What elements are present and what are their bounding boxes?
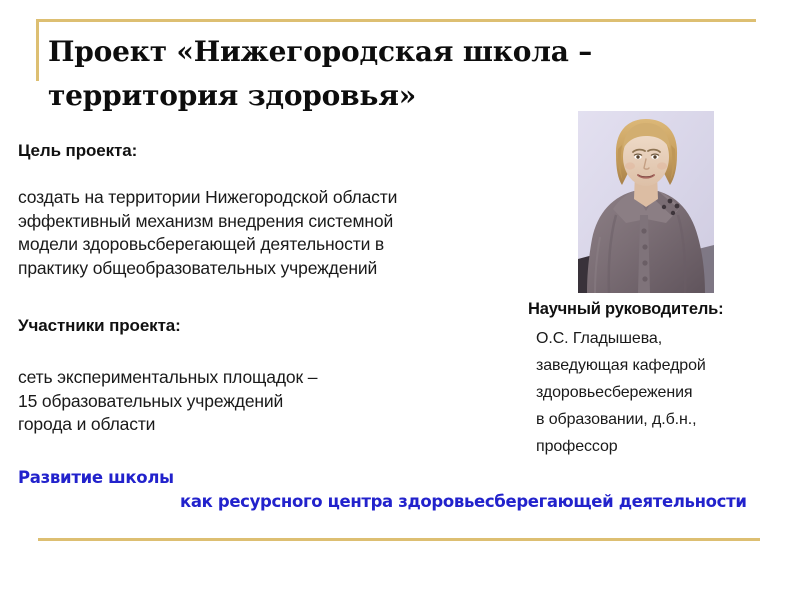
participants-line: сеть экспериментальных площадок –	[18, 366, 538, 390]
slide-title: Проект «Нижегородская школа – территория…	[48, 30, 608, 118]
supervisor-line: в образовании, д.б.н.,	[536, 406, 798, 433]
participants-line: 15 образовательных учреждений	[18, 390, 538, 414]
goal-line: эффективный механизм внедрения системной	[18, 210, 538, 234]
supervisor-line: О.С. Гладышева,	[536, 325, 798, 352]
supervisor-line: профессор	[536, 433, 798, 460]
supervisor-heading: Научный руководитель:	[528, 300, 723, 319]
goal-heading: Цель проекта:	[18, 141, 137, 161]
participants-line: города и области	[18, 413, 538, 437]
portrait-image	[578, 111, 714, 293]
decorative-rule-left	[36, 19, 39, 81]
decorative-rule-bottom	[38, 538, 760, 541]
supervisor-details: О.С. Гладышева, заведующая кафедрой здор…	[536, 325, 798, 460]
decorative-rule-top	[36, 19, 756, 22]
presentation-slide: Проект «Нижегородская школа – территория…	[0, 0, 800, 600]
slide-title-line-1: Проект «Нижегородская школа –	[48, 35, 592, 68]
slide-title-line-2: территория здоровья»	[48, 74, 608, 118]
footer-line-2: как ресурсного центра здоровьесберегающе…	[180, 492, 747, 511]
participants-heading: Участники проекта:	[18, 316, 181, 336]
goal-text: создать на территории Нижегородской обла…	[18, 186, 538, 280]
supervisor-line: здоровьесбережения	[536, 379, 798, 406]
goal-line: создать на территории Нижегородской обла…	[18, 186, 538, 210]
footer-line-1: Развитие школы	[18, 468, 174, 487]
supervisor-photo	[578, 111, 714, 293]
participants-text: сеть экспериментальных площадок – 15 обр…	[18, 366, 538, 437]
supervisor-line: заведующая кафедрой	[536, 352, 798, 379]
goal-line: практику общеобразовательных учреждений	[18, 257, 538, 281]
goal-line: модели здоровьсберегающей деятельности в	[18, 233, 538, 257]
